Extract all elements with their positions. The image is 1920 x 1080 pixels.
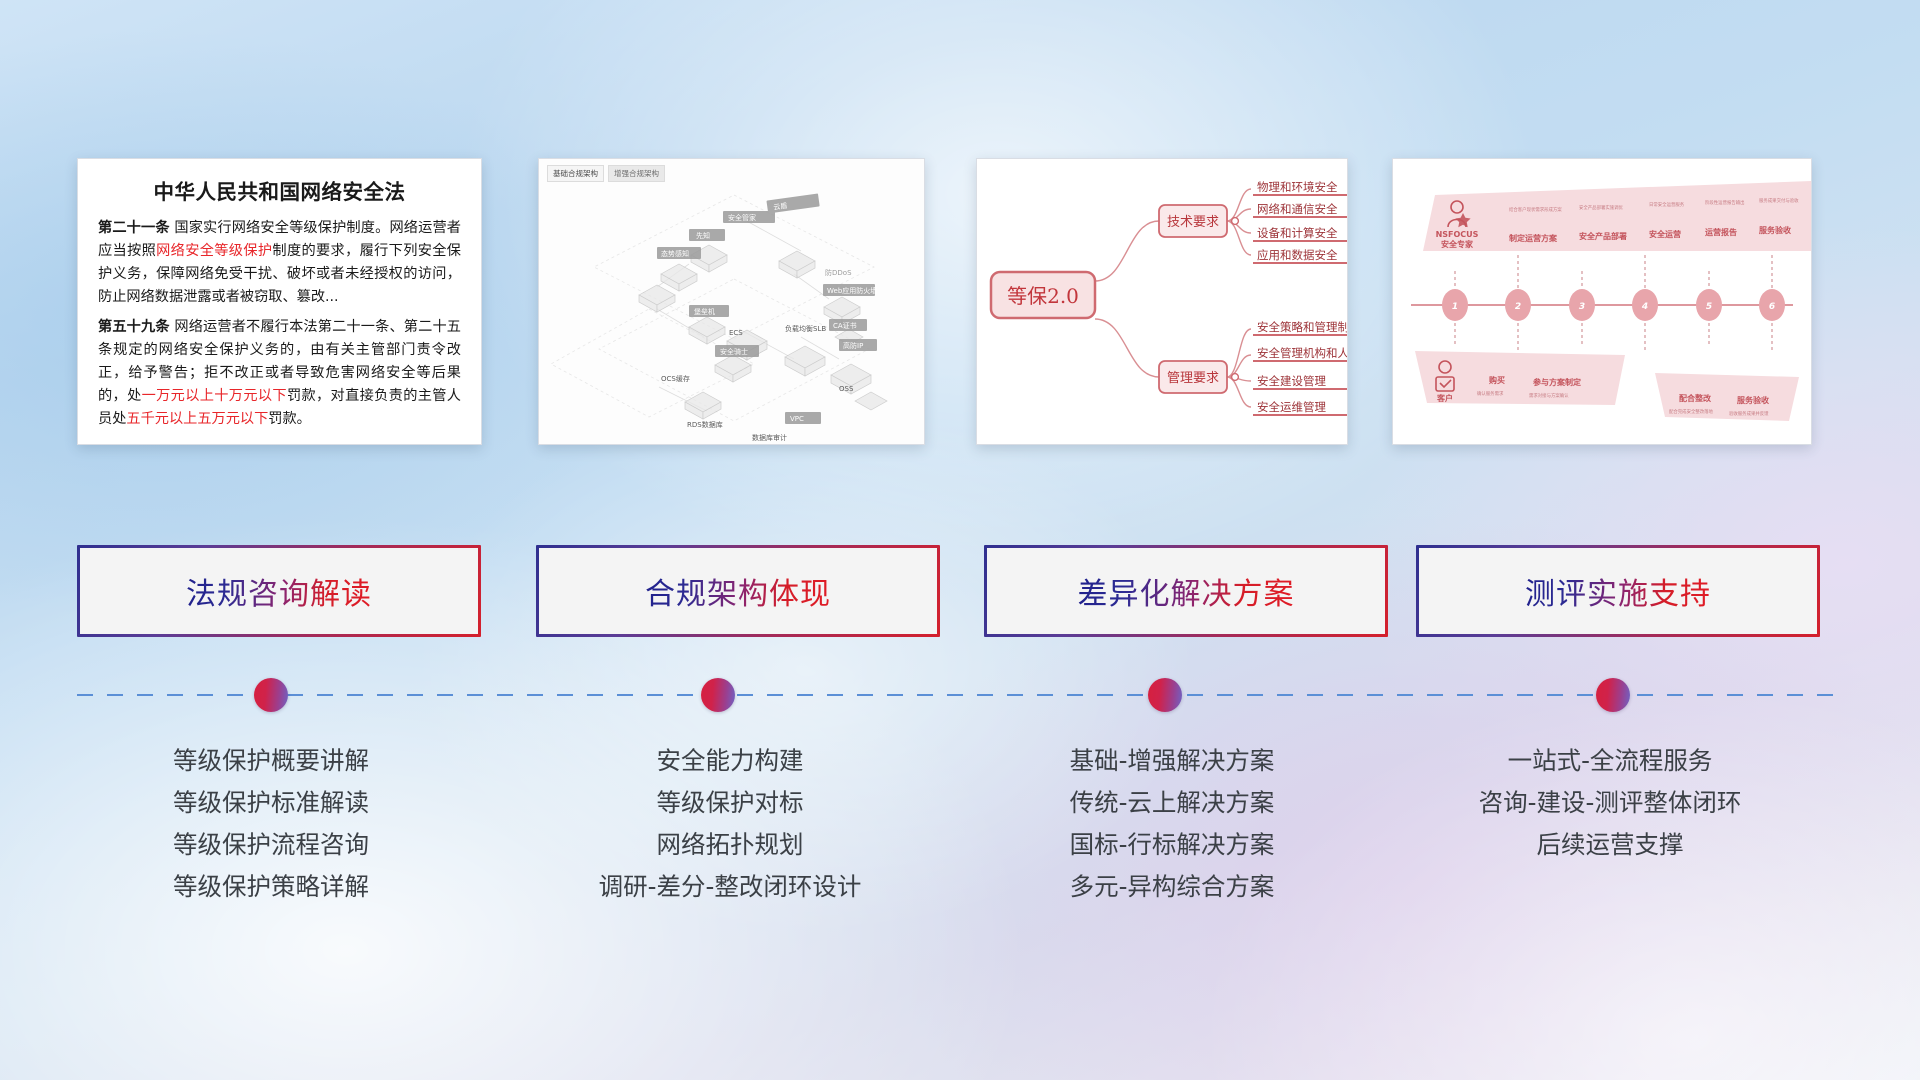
card-compliance-architecture[interactable]: 基础合规架构 增强合规架构 — [538, 158, 925, 445]
list-item: 后续运营支撑 — [1400, 824, 1820, 866]
top-step-3-label: 安全运营 — [1649, 229, 1681, 239]
mindmap-leaf-mgmt-2: 安全管理机构和人员 — [1257, 346, 1347, 360]
top-step-5-label: 服务验收 — [1759, 225, 1791, 235]
svg-text:ECS: ECS — [729, 329, 743, 337]
bottom-step-2-label: 参与方案制定 — [1532, 377, 1581, 387]
top-step-2-sub: 安全产品部署实施调优 — [1579, 204, 1624, 211]
headline-box-2[interactable]: 合规架构体现 — [536, 545, 940, 637]
mindmap-leaf-tech-1: 物理和环境安全 — [1257, 180, 1338, 194]
list-item: 咨询-建设-测评整体闭环 — [1400, 782, 1820, 824]
list-item: 传统-云上解决方案 — [962, 782, 1382, 824]
svg-text:Web应用防火墙: Web应用防火墙 — [827, 286, 877, 295]
svg-text:负载均衡SLB: 负载均衡SLB — [785, 324, 826, 333]
article-59-highlight-b: 五千元以上五万元以下 — [126, 411, 268, 427]
mindmap-leaf-mgmt-3: 安全建设管理 — [1257, 374, 1326, 388]
top-step-2-label: 安全产品部署 — [1579, 231, 1627, 241]
customer-role-line1: 客户 — [1436, 393, 1453, 403]
list-item: 国标-行标解决方案 — [962, 824, 1382, 866]
bottom-step-1-label: 购买 — [1489, 375, 1505, 385]
timeline-dot-4[interactable] — [1596, 678, 1630, 712]
process-diagram-svg: NSFOCUS 安全专家 结合客户现状需求形成方案 制定运营方案 安全产品部署实… — [1393, 159, 1811, 444]
mindmap-branch-mgmt-label: 管理要求 — [1167, 371, 1219, 386]
svg-text:数据库审计: 数据库审计 — [752, 433, 787, 442]
svg-text:高防IP: 高防IP — [843, 341, 863, 350]
bottom-step-2-sub: 需求对接与方案确认 — [1529, 392, 1569, 399]
headline-label-3: 差异化解决方案 — [1078, 569, 1295, 613]
list-item: 等级保护标准解读 — [61, 782, 481, 824]
svg-text:RDS数据库: RDS数据库 — [687, 420, 723, 429]
bottom-step-3-label: 配合整改 — [1679, 393, 1712, 403]
article-59-label: 第五十九条 — [98, 319, 170, 335]
column-4: 一站式-全流程服务 咨询-建设-测评整体闭环 后续运营支撑 — [1400, 740, 1820, 866]
law-title: 中华人民共和国网络安全法 — [98, 175, 461, 205]
process-step-number-1: 1 — [1452, 302, 1458, 312]
svg-text:堡垒机: 堡垒机 — [694, 307, 715, 316]
mindmap-leaf-tech-3: 设备和计算安全 — [1257, 226, 1338, 240]
mindmap-svg: 等保2.0 技术要求 管理要求 物理和环境安全 网络和通信安全 设备和计算安全 … — [977, 159, 1347, 444]
list-item: 等级保护流程咨询 — [61, 824, 481, 866]
card-dengbao-mindmap[interactable]: 等保2.0 技术要求 管理要求 物理和环境安全 网络和通信安全 设备和计算安全 … — [976, 158, 1348, 445]
top-step-3-sub: 日常安全运营服务 — [1649, 201, 1685, 208]
headline-row: 法规咨询解读 合规架构体现 差异化解决方案 测评实施支持 — [0, 545, 1920, 645]
thumbnail-card-row: 中华人民共和国网络安全法 第二十一条 国家实行网络安全等级保护制度。网络运营者应… — [0, 150, 1920, 450]
svg-text:CA证书: CA证书 — [833, 321, 857, 330]
timeline-dot-3[interactable] — [1148, 678, 1182, 712]
card-cybersecurity-law[interactable]: 中华人民共和国网络安全法 第二十一条 国家实行网络安全等级保护制度。网络运营者应… — [77, 158, 482, 445]
process-step-number-6: 6 — [1769, 302, 1775, 312]
column-1: 等级保护概要讲解 等级保护标准解读 等级保护流程咨询 等级保护策略详解 — [61, 740, 481, 909]
column-2: 安全能力构建 等级保护对标 网络拓扑规划 调研-差分-整改闭环设计 — [520, 740, 940, 909]
mindmap-branch-tech-label: 技术要求 — [1167, 215, 1219, 230]
list-item: 等级保护对标 — [520, 782, 940, 824]
bottom-step-4-sub: 验收服务成果并反馈 — [1729, 410, 1769, 417]
list-item: 多元-异构综合方案 — [962, 866, 1382, 908]
svg-text:先知: 先知 — [696, 231, 710, 240]
headline-label-2: 合规架构体现 — [645, 569, 831, 613]
svg-text:OCS缓存: OCS缓存 — [661, 374, 690, 383]
expert-role-line1: NSFOCUS — [1436, 230, 1479, 239]
bottom-step-1-sub: 确认服务需求 — [1477, 390, 1504, 397]
svg-text:OSS: OSS — [839, 385, 854, 393]
bottom-step-4-label: 服务验收 — [1737, 395, 1769, 405]
article-21-label: 第二十一条 — [98, 220, 170, 236]
list-item: 等级保护概要讲解 — [61, 740, 481, 782]
top-step-1-sub: 结合客户现状需求形成方案 — [1509, 206, 1562, 213]
mindmap-leaf-tech-2: 网络和通信安全 — [1257, 202, 1338, 216]
headline-box-3[interactable]: 差异化解决方案 — [984, 545, 1388, 637]
headline-box-4[interactable]: 测评实施支持 — [1416, 545, 1820, 637]
svg-text:安全骑士: 安全骑士 — [720, 347, 748, 356]
svg-text:态势感知: 态势感知 — [661, 249, 689, 258]
timeline-dot-1[interactable] — [254, 678, 288, 712]
bottom-step-3-sub: 配合完成安全整改落地 — [1669, 408, 1714, 415]
architecture-diagram-svg: 态势感知 先知 安全管家 堡垒机 安全骑士 Web应用防火墙 VPC CA证书 … — [539, 159, 924, 444]
headline-label-4: 测评实施支持 — [1525, 569, 1711, 613]
list-item: 调研-差分-整改闭环设计 — [520, 866, 940, 908]
headline-box-1[interactable]: 法规咨询解读 — [77, 545, 481, 637]
list-item: 基础-增强解决方案 — [962, 740, 1382, 782]
law-article-21: 第二十一条 国家实行网络安全等级保护制度。网络运营者应当按照网络安全等级保护制度… — [98, 217, 461, 309]
timeline-dot-2[interactable] — [701, 678, 735, 712]
process-step-number-4: 4 — [1641, 302, 1648, 312]
svg-text:防DDoS: 防DDoS — [825, 268, 852, 277]
list-item: 一站式-全流程服务 — [1400, 740, 1820, 782]
top-step-5-sub: 服务成果交付与验收 — [1759, 197, 1799, 204]
mindmap-leaf-mgmt-1: 安全策略和管理制度 — [1257, 320, 1347, 334]
svg-text:VPC: VPC — [790, 415, 804, 423]
list-item: 安全能力构建 — [520, 740, 940, 782]
mindmap-leaf-mgmt-4: 安全运维管理 — [1257, 400, 1326, 414]
process-step-number-5: 5 — [1706, 302, 1712, 312]
article-59-text-c: 罚款。 — [268, 411, 311, 427]
mindmap-root-label: 等保2.0 — [1007, 284, 1079, 308]
card-service-process[interactable]: NSFOCUS 安全专家 结合客户现状需求形成方案 制定运营方案 安全产品部署实… — [1392, 158, 1812, 445]
process-step-number-3: 3 — [1579, 302, 1585, 312]
detail-columns: 等级保护概要讲解 等级保护标准解读 等级保护流程咨询 等级保护策略详解 安全能力… — [0, 740, 1920, 980]
expert-role-line2: 安全专家 — [1441, 239, 1474, 249]
top-step-1-label: 制定运营方案 — [1509, 233, 1558, 243]
column-3: 基础-增强解决方案 传统-云上解决方案 国标-行标解决方案 多元-异构综合方案 — [962, 740, 1382, 909]
article-21-highlight: 网络安全等级保护 — [156, 243, 272, 259]
mindmap-leaf-tech-4: 应用和数据安全 — [1257, 248, 1338, 262]
svg-text:安全管家: 安全管家 — [728, 213, 756, 222]
list-item: 网络拓扑规划 — [520, 824, 940, 866]
law-article-59: 第五十九条 网络运营者不履行本法第二十一条、第二十五条规定的网络安全保护义务的，… — [98, 316, 461, 431]
headline-label-1: 法规咨询解读 — [186, 569, 372, 613]
process-step-number-2: 2 — [1515, 302, 1521, 312]
top-step-4-sub: 阶段性运营报告输出 — [1705, 199, 1745, 206]
article-59-highlight-a: 一万元以上十万元以下 — [142, 388, 287, 404]
timeline-dashed-line — [77, 694, 1843, 696]
list-item: 等级保护策略详解 — [61, 866, 481, 908]
top-step-4-label: 运营报告 — [1705, 227, 1737, 237]
